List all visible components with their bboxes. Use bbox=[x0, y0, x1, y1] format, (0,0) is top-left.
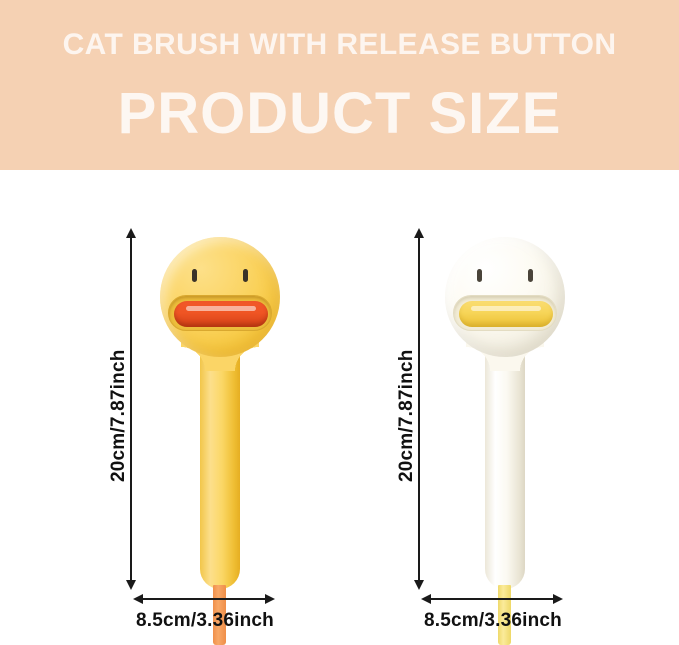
width-line-white bbox=[429, 598, 555, 600]
release-button-highlight-yellow bbox=[186, 306, 256, 311]
banner-title: PRODUCT SIZE bbox=[0, 85, 679, 143]
width-line-yellow bbox=[141, 598, 267, 600]
brush-head-yellow bbox=[160, 237, 280, 357]
width-label-yellow: 8.5cm/3.36inch bbox=[136, 610, 274, 632]
height-arrow-bottom-white bbox=[414, 580, 424, 590]
header-banner: CAT BRUSH WITH RELEASE BUTTON PRODUCT SI… bbox=[0, 0, 679, 170]
brush-handle-yellow bbox=[200, 333, 240, 589]
brush-eye-right-yellow bbox=[243, 269, 248, 282]
brush-eye-right-white bbox=[528, 269, 533, 282]
brush-illustration-white bbox=[445, 237, 575, 597]
height-label-white: 20cm/7.87inch bbox=[396, 349, 418, 482]
height-label-yellow: 20cm/7.87inch bbox=[108, 349, 130, 482]
width-arrow-right-white bbox=[553, 594, 563, 604]
banner-subtitle: CAT BRUSH WITH RELEASE BUTTON bbox=[0, 30, 679, 60]
brush-head-white bbox=[445, 237, 565, 357]
brush-handle-white bbox=[485, 333, 525, 589]
brush-eye-left-white bbox=[477, 269, 482, 282]
height-line-white bbox=[418, 236, 420, 582]
brush-illustration-yellow bbox=[160, 237, 290, 597]
release-button-white[interactable] bbox=[453, 295, 557, 331]
product-white-cat-brush: 20cm/7.87inch 8.5cm/3.36inch bbox=[287, 170, 627, 637]
width-arrow-right-yellow bbox=[265, 594, 275, 604]
release-button-pill-white[interactable] bbox=[459, 301, 553, 327]
height-arrow-bottom-yellow bbox=[126, 580, 136, 590]
product-diagram-area: 20cm/7.87inch 8.5cm/ bbox=[0, 170, 679, 637]
height-line-yellow bbox=[130, 236, 132, 582]
width-label-white: 8.5cm/3.36inch bbox=[424, 610, 562, 632]
release-button-highlight-white bbox=[471, 306, 541, 311]
release-button-yellow[interactable] bbox=[168, 295, 272, 331]
release-button-pill-yellow[interactable] bbox=[174, 301, 268, 327]
brush-eye-left-yellow bbox=[192, 269, 197, 282]
